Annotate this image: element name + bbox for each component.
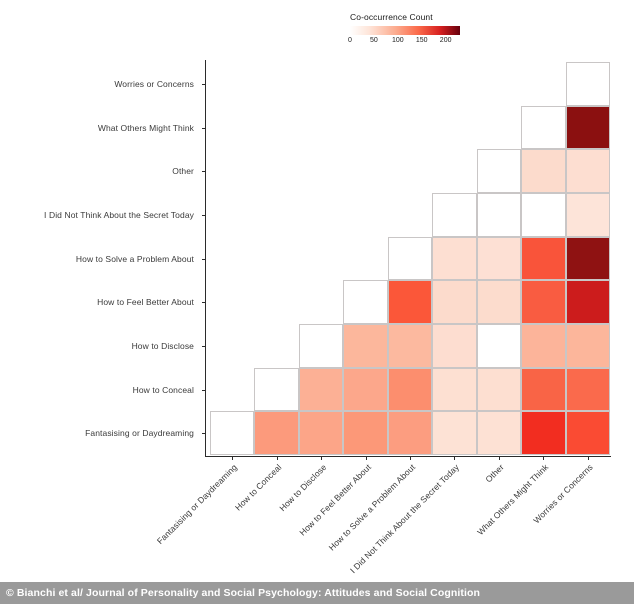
heatmap-cell: [566, 149, 610, 193]
heatmap-cell: [566, 193, 610, 237]
x-axis-tick: [321, 457, 322, 460]
heatmap-grid: [210, 62, 610, 455]
heatmap-cell: [566, 324, 610, 368]
heatmap-cell: [566, 106, 610, 150]
credit-bar: © Bianchi et al/ Journal of Personality …: [0, 582, 634, 604]
y-axis-label: How to Solve a Problem About: [76, 254, 194, 264]
heatmap-cell: [432, 324, 476, 368]
x-axis-tick: [366, 457, 367, 460]
heatmap-cell: [432, 237, 476, 281]
y-axis-label: I Did Not Think About the Secret Today: [44, 210, 194, 220]
heatmap-cell: [521, 237, 565, 281]
heatmap-cell: [477, 237, 521, 281]
y-axis-label: How to Conceal: [133, 385, 194, 395]
heatmap-cell: [521, 411, 565, 455]
y-axis-tick: [202, 128, 205, 129]
colorbar-title: Co-occurrence Count: [350, 12, 460, 22]
x-axis-tick: [588, 457, 589, 460]
heatmap-cell: [343, 411, 387, 455]
heatmap-cell: [343, 368, 387, 412]
x-axis-tick: [454, 457, 455, 460]
heatmap-cell: [210, 411, 254, 455]
heatmap-cell: [299, 324, 343, 368]
heatmap-cell: [566, 368, 610, 412]
heatmap-cell: [477, 411, 521, 455]
y-axis-tick: [202, 433, 205, 434]
y-axis-tick: [202, 171, 205, 172]
y-axis-spine: [205, 60, 206, 457]
y-axis-labels: Worries or ConcernsWhat Others Might Thi…: [0, 0, 201, 604]
heatmap-cell: [521, 324, 565, 368]
y-axis-label: How to Feel Better About: [97, 297, 194, 307]
heatmap-cell: [521, 280, 565, 324]
heatmap-cell: [521, 193, 565, 237]
heatmap-cell: [566, 411, 610, 455]
x-axis-label: How to Conceal: [233, 462, 283, 512]
colorbar-tick-100: 100: [392, 37, 404, 44]
x-axis-label: How to Solve a Problem About: [326, 462, 417, 553]
heatmap-cell: [566, 280, 610, 324]
colorbar-tick-200: 200: [440, 37, 452, 44]
heatmap-cell: [477, 193, 521, 237]
heatmap-cell: [432, 193, 476, 237]
y-axis-tick: [202, 259, 205, 260]
x-axis-spine: [205, 456, 611, 457]
heatmap-cell: [432, 411, 476, 455]
colorbar-gradient: [350, 26, 460, 35]
colorbar-tick-150: 150: [416, 37, 428, 44]
x-axis-tick: [499, 457, 500, 460]
heatmap-cell: [477, 324, 521, 368]
colorbar-legend: Co-occurrence Count 050100150200: [350, 12, 480, 48]
x-axis-tick: [277, 457, 278, 460]
heatmap-cell: [388, 324, 432, 368]
heatmap-cell: [566, 62, 610, 106]
heatmap-cell: [477, 149, 521, 193]
heatmap-cell: [477, 280, 521, 324]
y-axis-tick: [202, 215, 205, 216]
x-axis-tick: [410, 457, 411, 460]
heatmap-cell: [388, 280, 432, 324]
heatmap-cell: [521, 368, 565, 412]
heatmap-cell: [343, 324, 387, 368]
y-axis-tick: [202, 346, 205, 347]
colorbar-tick-50: 50: [370, 37, 378, 44]
heatmap-cell: [299, 411, 343, 455]
y-axis-label: How to Disclose: [132, 341, 194, 351]
heatmap-cell: [432, 368, 476, 412]
heatmap-cell: [432, 280, 476, 324]
heatmap-cell: [388, 237, 432, 281]
y-axis-tick: [202, 302, 205, 303]
y-axis-label: Worries or Concerns: [114, 79, 194, 89]
x-axis-label: Other: [483, 462, 505, 484]
colorbar-tick-0: 0: [348, 37, 352, 44]
heatmap-cell: [388, 368, 432, 412]
heatmap-cell: [477, 368, 521, 412]
heatmap-cell: [299, 368, 343, 412]
y-axis-label: What Others Might Think: [98, 123, 194, 133]
y-axis-tick: [202, 390, 205, 391]
heatmap-cell: [566, 237, 610, 281]
heatmap-cell: [343, 280, 387, 324]
x-axis-tick: [232, 457, 233, 460]
heatmap-cell: [521, 149, 565, 193]
heatmap-cell: [254, 368, 298, 412]
y-axis-label: Other: [172, 166, 194, 176]
heatmap-cell: [254, 411, 298, 455]
y-axis-tick: [202, 84, 205, 85]
credit-text: © Bianchi et al/ Journal of Personality …: [0, 587, 480, 599]
y-axis-label: Fantasising or Daydreaming: [85, 428, 194, 438]
heatmap-cell: [388, 411, 432, 455]
heatmap-cell: [521, 106, 565, 150]
x-axis-tick: [543, 457, 544, 460]
colorbar-tick-labels: 050100150200: [350, 36, 460, 48]
